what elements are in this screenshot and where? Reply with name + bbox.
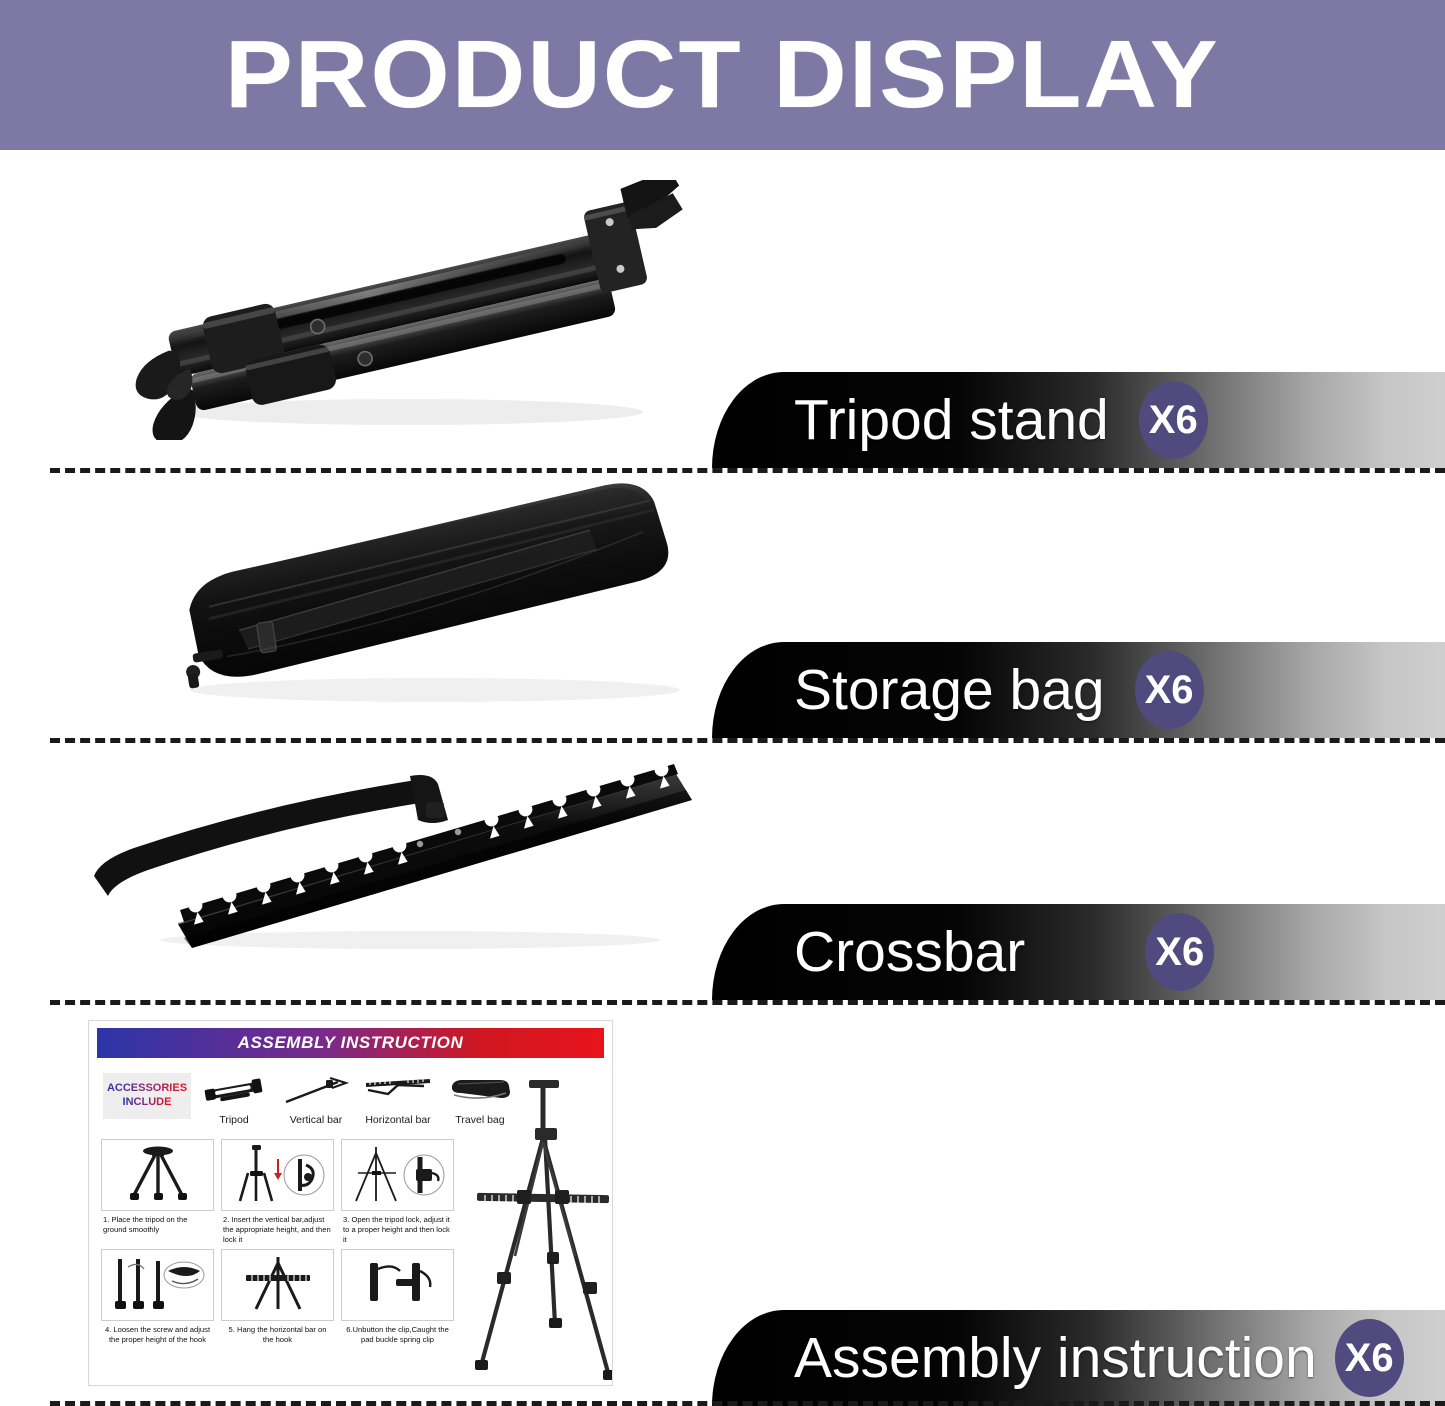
product-label-crossbar: Crossbar <box>794 924 1025 981</box>
accessory-item-vertical-bar: Vertical bar <box>277 1071 355 1126</box>
vertical-bar-icon <box>282 1071 350 1111</box>
product-row-tripod-stand: Tripod stand X6 <box>0 150 1445 470</box>
product-label-bar-tripod-stand[interactable]: Tripod stand X6 <box>712 372 1445 468</box>
product-label-tripod-stand: Tripod stand <box>794 392 1109 449</box>
step-image-4 <box>101 1249 214 1321</box>
accessories-chip-line1: ACCESSORIES <box>107 1082 187 1096</box>
poster-header: ASSEMBLY INSTRUCTION <box>97 1028 604 1058</box>
product-label-storage-bag: Storage bag <box>794 662 1105 719</box>
steps-grid: 1. Place the tripod on the ground smooth… <box>101 1139 453 1355</box>
accessory-label-tripod: Tripod <box>219 1114 248 1126</box>
assembly-instruction-poster: ASSEMBLY INSTRUCTION ACCESSORIES INCLUDE <box>88 1020 613 1386</box>
step-image-6 <box>341 1249 454 1321</box>
page-title: PRODUCT DISPLAY <box>225 27 1220 123</box>
step-image-2 <box>221 1139 334 1211</box>
black-crossbar-photo <box>80 758 700 958</box>
accessory-item-horizontal-bar: Horizontal bar <box>359 1071 437 1126</box>
product-label-bar-crossbar[interactable]: Crossbar X6 <box>712 904 1445 1000</box>
step-cell-2: 2. Insert the vertical bar,adjust the ap… <box>221 1139 334 1245</box>
product-label-bar-assembly-instruction[interactable]: Assembly instruction X6 <box>712 1310 1445 1406</box>
quantity-badge-assembly-instruction: X6 <box>1335 1319 1404 1397</box>
accessories-chip-line2: INCLUDE <box>123 1096 172 1110</box>
accessory-item-tripod: Tripod <box>195 1071 273 1126</box>
accessory-label-vertical-bar: Vertical bar <box>290 1114 343 1126</box>
step-cell-3: 3. Open the tripod lock, adjust it to a … <box>341 1139 454 1245</box>
step-image-1 <box>101 1139 214 1211</box>
product-row-storage-bag: Storage bag X6 <box>0 470 1445 738</box>
product-row-assembly-instruction: ASSEMBLY INSTRUCTION ACCESSORIES INCLUDE <box>0 1000 1445 1404</box>
step-caption-2: 2. Insert the vertical bar,adjust the ap… <box>221 1215 334 1245</box>
step-image-5 <box>221 1249 334 1321</box>
header-banner: PRODUCT DISPLAY <box>0 0 1445 150</box>
quantity-badge-storage-bag: X6 <box>1135 651 1204 729</box>
step-image-3 <box>341 1139 454 1211</box>
finished-easel-area: 7. Finished <box>459 1076 613 1386</box>
folded-tripod-icon <box>203 1071 265 1111</box>
step-caption-4: 4. Loosen the screw and adjust the prope… <box>101 1325 214 1355</box>
step-cell-5: 5. Hang the horizontal bar on the hook <box>221 1249 334 1355</box>
quantity-badge-tripod-stand: X6 <box>1139 381 1208 459</box>
steps-row-2: 4. Loosen the screw and adjust the prope… <box>101 1249 453 1355</box>
product-label-bar-storage-bag[interactable]: Storage bag X6 <box>712 642 1445 738</box>
steps-row-1: 1. Place the tripod on the ground smooth… <box>101 1139 453 1245</box>
step-cell-1: 1. Place the tripod on the ground smooth… <box>101 1139 214 1245</box>
quantity-badge-crossbar: X6 <box>1145 913 1214 991</box>
step-caption-1: 1. Place the tripod on the ground smooth… <box>101 1215 214 1245</box>
accessories-include-chip: ACCESSORIES INCLUDE <box>103 1073 191 1119</box>
folded-tripod-stand-photo <box>108 180 688 440</box>
product-row-crossbar: Crossbar X6 <box>0 738 1445 1000</box>
step-caption-3: 3. Open the tripod lock, adjust it to a … <box>341 1215 454 1245</box>
step-caption-5: 5. Hang the horizontal bar on the hook <box>221 1325 334 1355</box>
black-storage-bag-photo <box>150 480 710 710</box>
step-caption-6: 6.Unbutton the clip,Caught the pad buckl… <box>341 1325 454 1355</box>
step-cell-6: 6.Unbutton the clip,Caught the pad buckl… <box>341 1249 454 1355</box>
step-cell-4: 4. Loosen the screw and adjust the prope… <box>101 1249 214 1355</box>
accessory-label-horizontal-bar: Horizontal bar <box>365 1114 430 1126</box>
product-label-assembly-instruction: Assembly instruction <box>794 1330 1317 1387</box>
horizontal-bar-icon <box>362 1071 434 1111</box>
product-list: Tripod stand X6 <box>0 150 1445 1404</box>
poster-title: ASSEMBLY INSTRUCTION <box>238 1033 464 1053</box>
